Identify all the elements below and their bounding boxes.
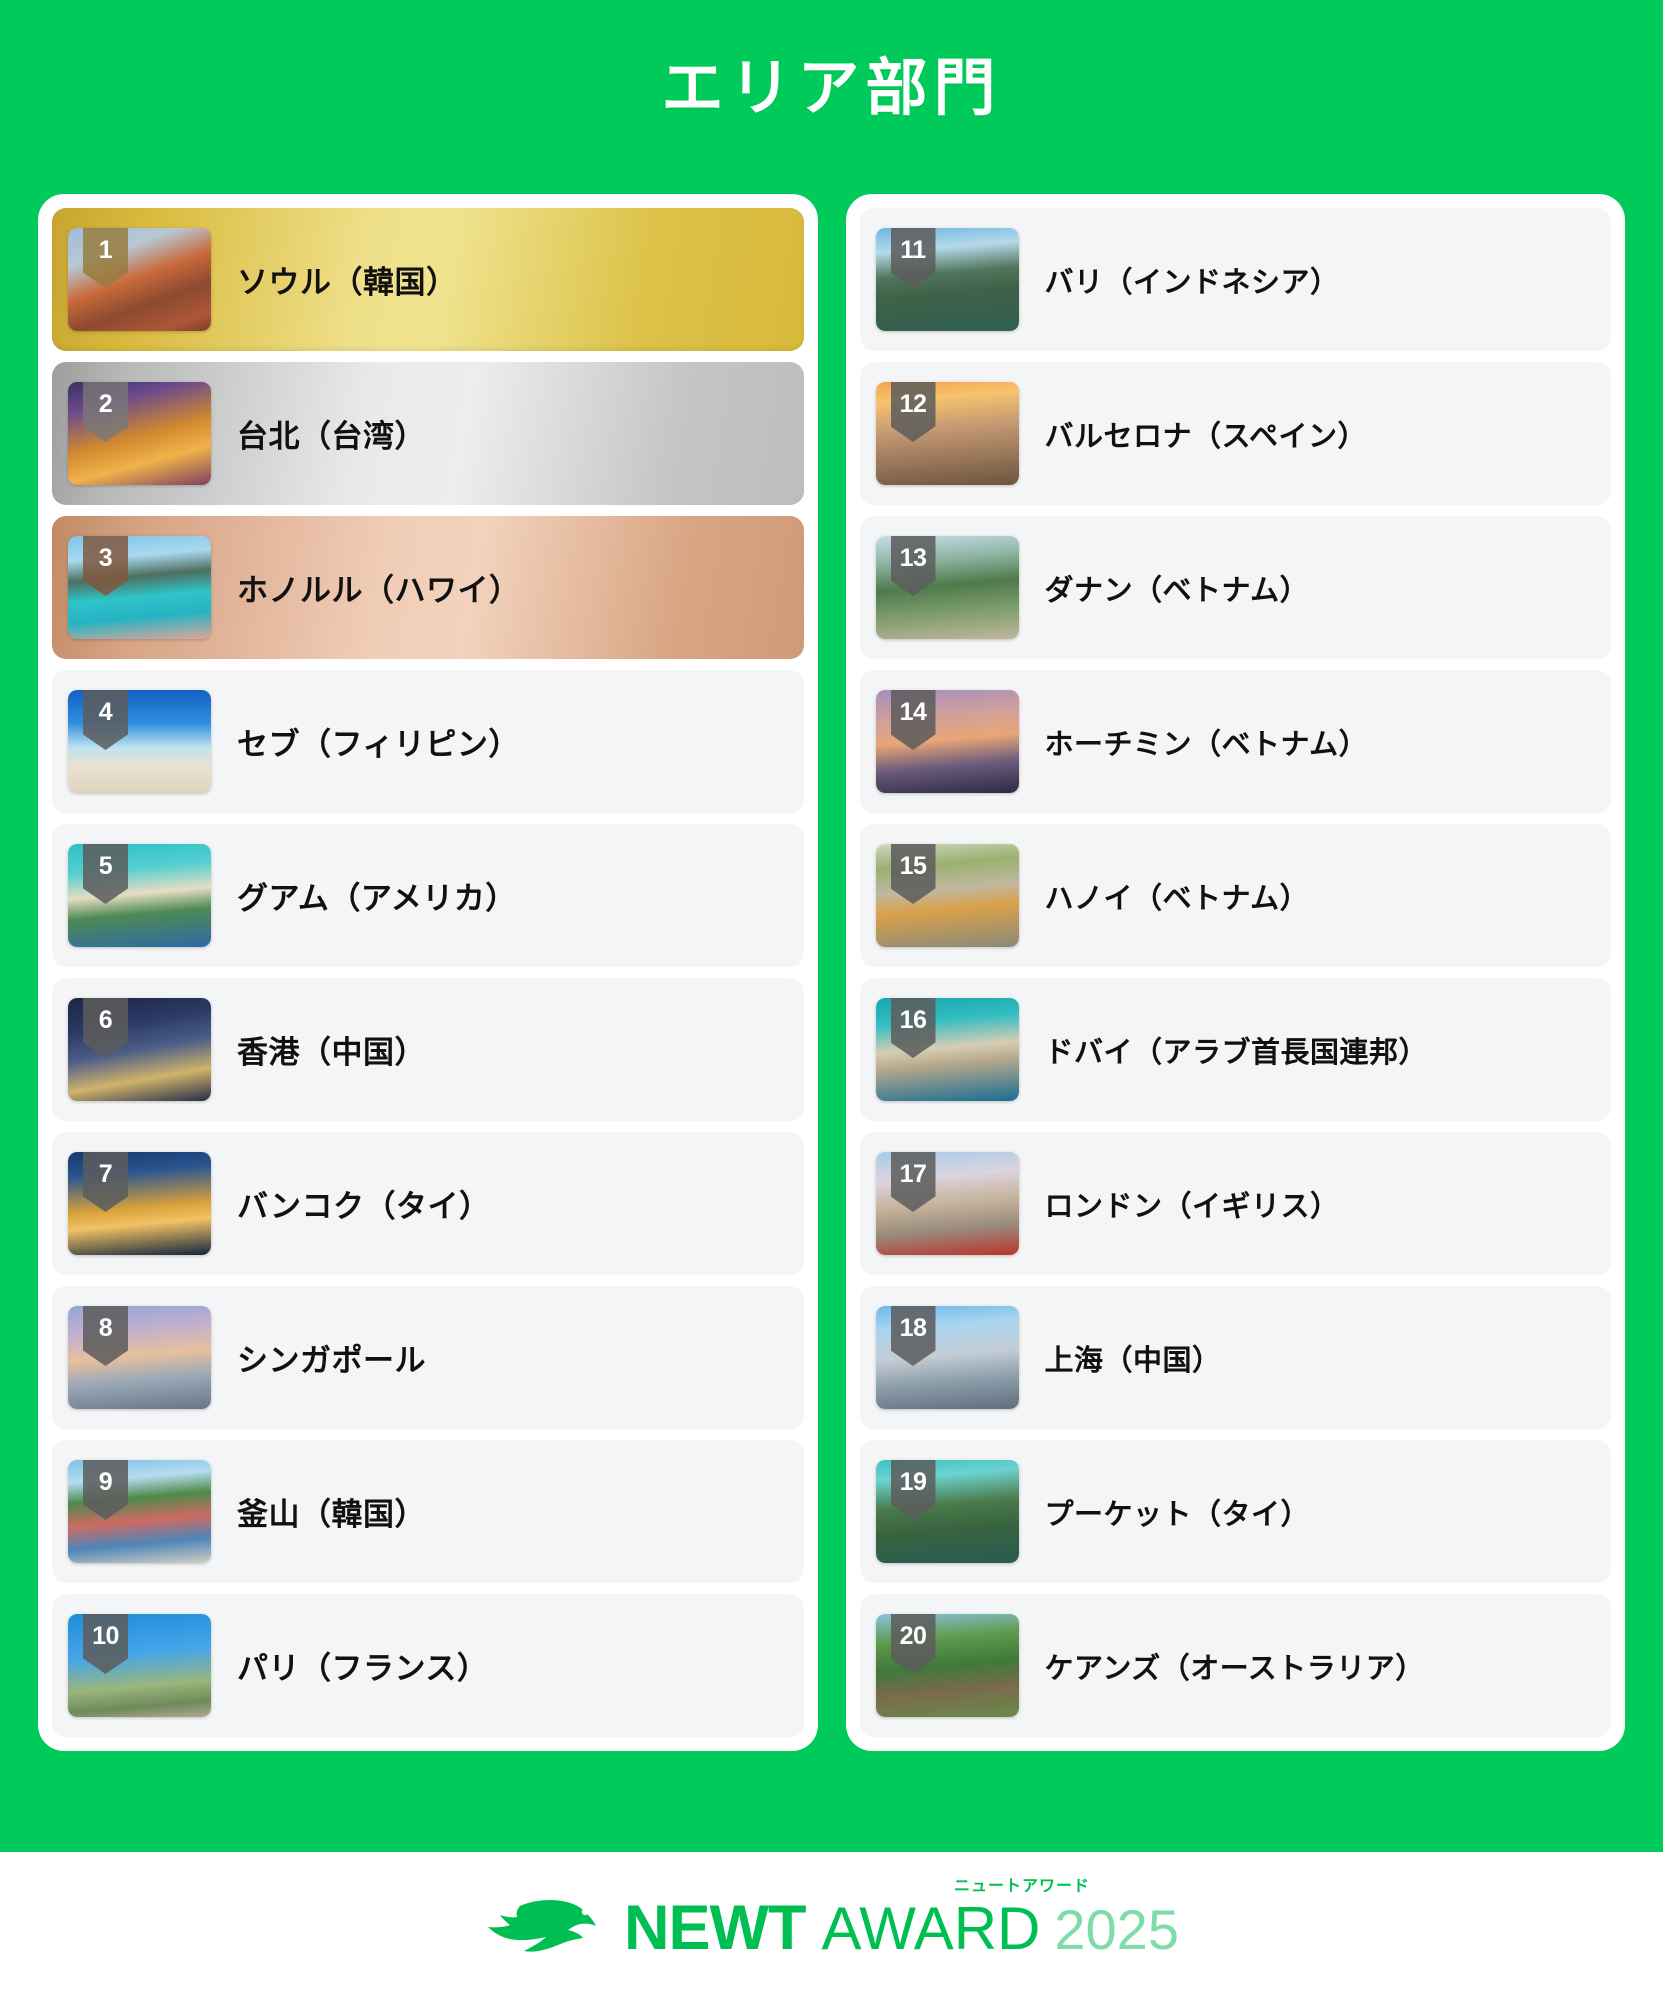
destination-label: ホーチミン（ベトナム） <box>1045 721 1369 763</box>
destination-label: 台北（台湾） <box>237 411 426 456</box>
destination-label: バルセロナ（スペイン） <box>1045 413 1367 455</box>
destination-thumbnail: 10 <box>68 1614 211 1717</box>
destination-thumbnail: 13 <box>876 536 1019 639</box>
turtle-icon <box>484 1896 602 1960</box>
destination-label: グアム（アメリカ） <box>237 873 517 918</box>
rank-number: 7 <box>99 1152 112 1187</box>
rank-row[interactable]: 11バリ（インドネシア） <box>860 208 1612 351</box>
rank-number: 16 <box>900 998 927 1033</box>
rank-number: 20 <box>900 1614 927 1649</box>
ranking-poster: エリア部門 1ソウル（韓国）2台北（台湾）3ホノルル（ハワイ）4セブ（フィリピン… <box>0 0 1663 2000</box>
destination-thumbnail: 9 <box>68 1460 211 1563</box>
rank-number: 4 <box>99 690 112 725</box>
rank-number: 9 <box>99 1460 112 1495</box>
destination-label: ソウル（韓国） <box>237 257 458 302</box>
destination-label: シンガポール <box>237 1335 426 1380</box>
destination-thumbnail: 2 <box>68 382 211 485</box>
rank-number: 10 <box>92 1614 119 1649</box>
rank-number: 5 <box>99 844 112 879</box>
destination-thumbnail: 14 <box>876 690 1019 793</box>
rank-row[interactable]: 1ソウル（韓国） <box>52 208 804 351</box>
destination-thumbnail: 6 <box>68 998 211 1101</box>
destination-thumbnail: 15 <box>876 844 1019 947</box>
destination-thumbnail: 7 <box>68 1152 211 1255</box>
ranking-panel-left: 1ソウル（韓国）2台北（台湾）3ホノルル（ハワイ）4セブ（フィリピン）5グアム（… <box>38 194 818 1751</box>
rank-number: 14 <box>900 690 927 725</box>
rank-row[interactable]: 13ダナン（ベトナム） <box>860 516 1612 659</box>
rank-row[interactable]: 5グアム（アメリカ） <box>52 824 804 967</box>
destination-label: ダナン（ベトナム） <box>1045 567 1310 609</box>
rank-number: 2 <box>99 382 112 417</box>
destination-label: ホノルル（ハワイ） <box>237 565 521 610</box>
destination-thumbnail: 17 <box>876 1152 1019 1255</box>
rank-number: 12 <box>900 382 927 417</box>
rank-number: 11 <box>900 228 925 263</box>
destination-label: プーケット（タイ） <box>1045 1491 1311 1533</box>
rank-row[interactable]: 2台北（台湾） <box>52 362 804 505</box>
destination-thumbnail: 20 <box>876 1614 1019 1717</box>
destination-thumbnail: 4 <box>68 690 211 793</box>
rank-row[interactable]: 6香港（中国） <box>52 978 804 1121</box>
destination-thumbnail: 11 <box>876 228 1019 331</box>
ruby-text: ニュートアワード <box>954 1872 1090 1896</box>
rank-number: 1 <box>99 228 112 263</box>
destination-thumbnail: 19 <box>876 1460 1019 1563</box>
destination-label: バリ（インドネシア） <box>1045 259 1340 301</box>
wordmark: ニュートアワード NEWT AWARD 2025 <box>624 1892 1179 1964</box>
rank-number: 15 <box>900 844 927 879</box>
rank-row[interactable]: 9釜山（韓国） <box>52 1440 804 1583</box>
destination-label: ケアンズ（オーストラリア） <box>1045 1645 1425 1687</box>
destination-label: ドバイ（アラブ首長国連邦） <box>1045 1029 1429 1071</box>
award-text: AWARD <box>822 1894 1041 1963</box>
footer: ニュートアワード NEWT AWARD 2025 <box>0 1852 1663 2000</box>
brand-name: NEWT <box>624 1892 805 1964</box>
hero-background: エリア部門 1ソウル（韓国）2台北（台湾）3ホノルル（ハワイ）4セブ（フィリピン… <box>0 0 1663 1852</box>
rank-row[interactable]: 12バルセロナ（スペイン） <box>860 362 1612 505</box>
rank-row[interactable]: 3ホノルル（ハワイ） <box>52 516 804 659</box>
destination-thumbnail: 1 <box>68 228 211 331</box>
ranking-panel-right: 11バリ（インドネシア）12バルセロナ（スペイン）13ダナン（ベトナム）14ホー… <box>846 194 1626 1751</box>
rank-row[interactable]: 4セブ（フィリピン） <box>52 670 804 813</box>
award-year: 2025 <box>1054 1897 1179 1962</box>
rank-number: 3 <box>99 536 112 571</box>
rank-number: 18 <box>900 1306 927 1341</box>
rank-row[interactable]: 16ドバイ（アラブ首長国連邦） <box>860 978 1612 1121</box>
rank-row[interactable]: 15ハノイ（ベトナム） <box>860 824 1612 967</box>
destination-label: ハノイ（ベトナム） <box>1045 875 1310 917</box>
destination-label: ロンドン（イギリス） <box>1045 1183 1340 1225</box>
destination-label: バンコク（タイ） <box>237 1181 491 1226</box>
ranking-columns: 1ソウル（韓国）2台北（台湾）3ホノルル（ハワイ）4セブ（フィリピン）5グアム（… <box>38 194 1625 1751</box>
rank-number: 13 <box>900 536 927 571</box>
rank-number: 6 <box>99 998 112 1033</box>
rank-row[interactable]: 19プーケット（タイ） <box>860 1440 1612 1583</box>
rank-row[interactable]: 20ケアンズ（オーストラリア） <box>860 1594 1612 1737</box>
rank-row[interactable]: 14ホーチミン（ベトナム） <box>860 670 1612 813</box>
destination-thumbnail: 3 <box>68 536 211 639</box>
rank-number: 8 <box>99 1306 112 1341</box>
rank-row[interactable]: 7バンコク（タイ） <box>52 1132 804 1275</box>
rank-row[interactable]: 8シンガポール <box>52 1286 804 1429</box>
page-title: エリア部門 <box>0 52 1663 126</box>
destination-thumbnail: 18 <box>876 1306 1019 1409</box>
rank-row[interactable]: 18上海（中国） <box>860 1286 1612 1429</box>
destination-thumbnail: 8 <box>68 1306 211 1409</box>
destination-label: 上海（中国） <box>1045 1337 1222 1379</box>
destination-thumbnail: 12 <box>876 382 1019 485</box>
newt-award-logo: ニュートアワード NEWT AWARD 2025 <box>484 1892 1179 1964</box>
rank-number: 17 <box>900 1152 927 1187</box>
destination-label: パリ（フランス） <box>237 1643 488 1688</box>
destination-label: セブ（フィリピン） <box>237 719 520 764</box>
rank-row[interactable]: 10パリ（フランス） <box>52 1594 804 1737</box>
destination-label: 釜山（韓国） <box>237 1489 426 1534</box>
rank-row[interactable]: 17ロンドン（イギリス） <box>860 1132 1612 1275</box>
rank-number: 19 <box>900 1460 927 1495</box>
destination-label: 香港（中国） <box>237 1027 426 1072</box>
destination-thumbnail: 5 <box>68 844 211 947</box>
destination-thumbnail: 16 <box>876 998 1019 1101</box>
